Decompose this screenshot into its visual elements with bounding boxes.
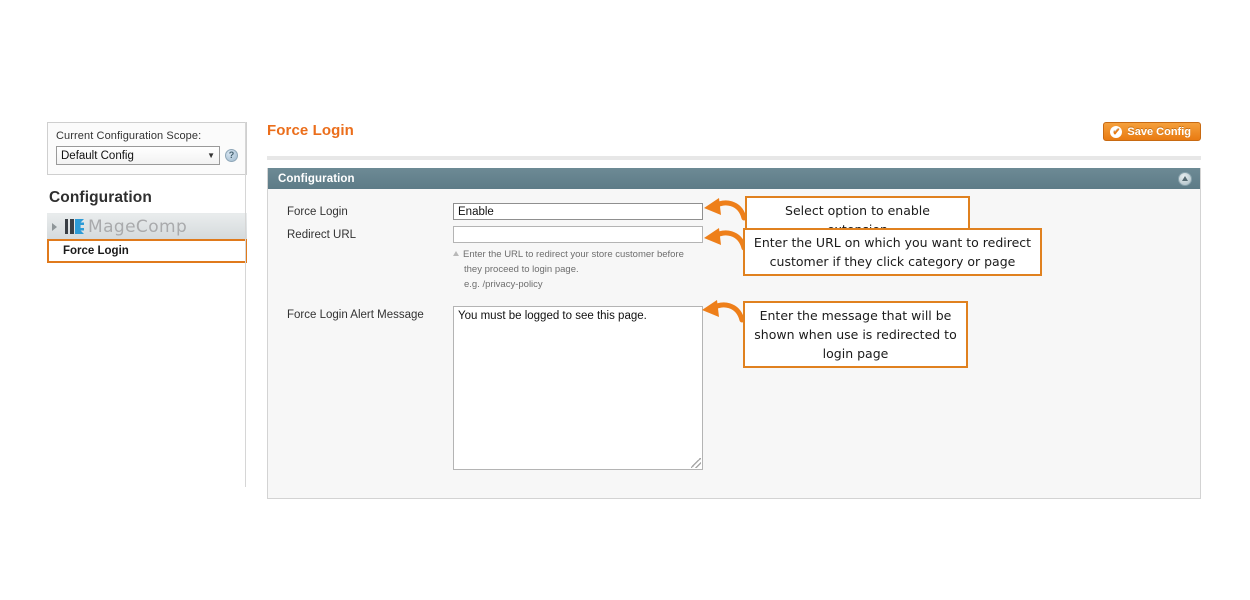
- hint-line-1: Enter the URL to redirect your store cus…: [453, 247, 705, 262]
- sidebar-item-label: Force Login: [63, 245, 129, 257]
- redirect-url-input[interactable]: [453, 226, 703, 243]
- force-login-control: Enable: [453, 203, 703, 220]
- sidebar-group-magecomp[interactable]: MageComp: [47, 213, 247, 239]
- resize-grip-icon[interactable]: [691, 458, 701, 468]
- magecomp-logo: MageComp: [65, 217, 187, 237]
- save-config-button[interactable]: ✔ Save Config: [1103, 122, 1201, 141]
- field-row-alert-message: Force Login Alert Message You must be lo…: [268, 306, 1200, 470]
- sidebar-item-force-login[interactable]: Force Login: [47, 239, 247, 263]
- check-circle-icon: ✔: [1110, 126, 1122, 138]
- config-sidebar: Current Configuration Scope: Default Con…: [47, 122, 247, 263]
- panel-title: Configuration: [278, 173, 355, 185]
- annotation-callout-redirect-url: Enter the URL on which you want to redir…: [743, 228, 1042, 276]
- title-divider: [267, 156, 1201, 160]
- magecomp-mark-icon: [65, 219, 84, 234]
- callout-arrow-icon: [702, 196, 746, 226]
- annotation-callout-alert-message: Enter the message that will be shown whe…: [743, 301, 968, 368]
- redirect-url-control: Enter the URL to redirect your store cus…: [453, 226, 703, 292]
- redirect-url-hint: Enter the URL to redirect your store cus…: [453, 247, 705, 292]
- scope-select-value: Default Config: [61, 150, 134, 162]
- help-icon[interactable]: ?: [225, 149, 238, 162]
- alert-message-label: Force Login Alert Message: [268, 306, 453, 321]
- callout-arrow-icon: [700, 298, 744, 328]
- hint-text-1: Enter the URL to redirect your store cus…: [463, 249, 684, 260]
- scope-label: Current Configuration Scope:: [56, 130, 238, 142]
- alert-message-textarea[interactable]: You must be logged to see this page.: [453, 306, 703, 470]
- hint-line-2: they proceed to login page.: [453, 262, 705, 277]
- force-login-select[interactable]: Enable: [453, 203, 703, 220]
- scope-select[interactable]: Default Config ▼: [56, 146, 220, 165]
- hint-triangle-icon: [453, 251, 459, 256]
- force-login-label: Force Login: [268, 203, 453, 218]
- panel-header[interactable]: Configuration: [268, 168, 1200, 189]
- redirect-url-label: Redirect URL: [268, 226, 453, 241]
- page-header: Force Login ✔ Save Config: [267, 122, 1201, 152]
- force-login-value: Enable: [458, 206, 494, 218]
- chevron-down-icon: ▼: [207, 152, 215, 160]
- save-config-label: Save Config: [1127, 126, 1191, 138]
- sidebar-heading: Configuration: [49, 189, 247, 207]
- configuration-scope-box: Current Configuration Scope: Default Con…: [47, 122, 247, 175]
- page-title: Force Login: [267, 122, 1201, 139]
- chevron-up-circle-icon[interactable]: [1178, 172, 1192, 186]
- alert-message-value: You must be logged to see this page.: [458, 310, 647, 322]
- triangle-right-icon: [52, 223, 57, 231]
- scope-row: Default Config ▼ ?: [56, 146, 238, 165]
- magecomp-wordmark: MageComp: [88, 217, 187, 237]
- sidebar-divider: [245, 122, 246, 487]
- callout-arrow-icon: [702, 226, 746, 256]
- hint-line-3: e.g. /privacy-policy: [453, 277, 705, 292]
- alert-message-control: You must be logged to see this page.: [453, 306, 703, 470]
